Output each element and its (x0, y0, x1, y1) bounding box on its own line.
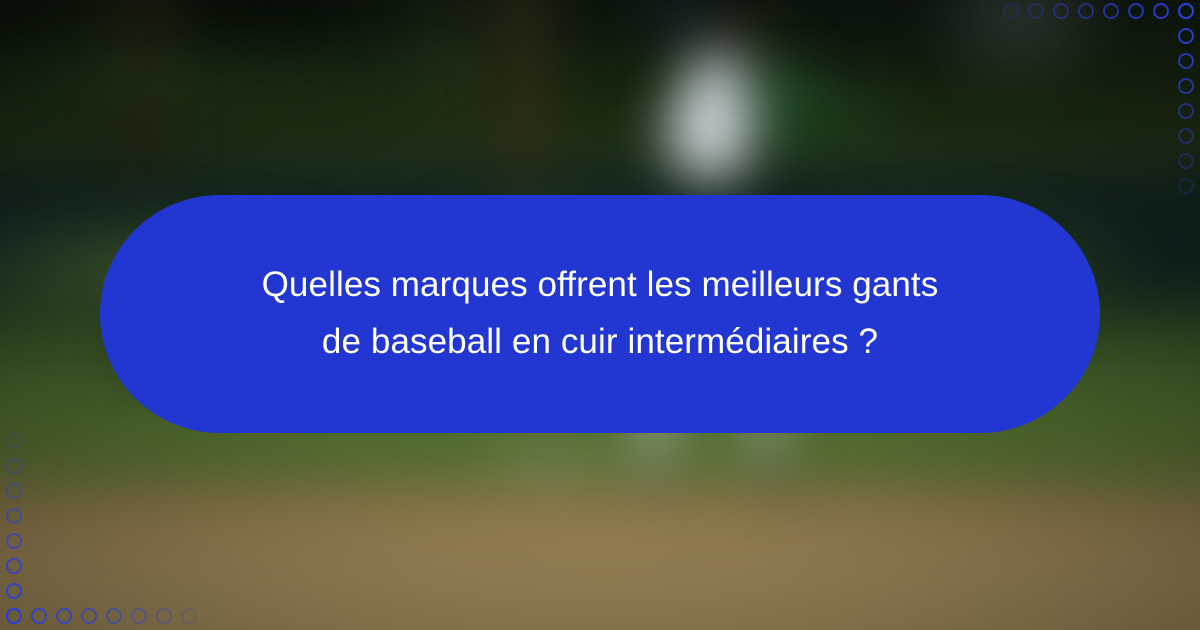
decor-circle (6, 533, 22, 549)
decor-circle (181, 608, 197, 624)
decor-circle (81, 608, 97, 624)
decor-circle (1178, 28, 1194, 44)
decor-circle (1178, 153, 1194, 169)
decor-circle (1178, 78, 1194, 94)
decor-circle (1178, 103, 1194, 119)
decor-circle (1028, 3, 1044, 19)
decor-circle (156, 608, 172, 624)
decor-circle (106, 608, 122, 624)
decor-circle (1078, 3, 1094, 19)
question-text: Quelles marques offrent les meilleurs ga… (262, 257, 939, 370)
decor-circle (6, 458, 22, 474)
decor-circle (1103, 3, 1119, 19)
decor-circle (56, 608, 72, 624)
decor-circle (1178, 178, 1194, 194)
decor-circle (1053, 3, 1069, 19)
decor-circle (6, 558, 22, 574)
decor-circle (1003, 3, 1019, 19)
decor-circle (6, 508, 22, 524)
decor-circle (131, 608, 147, 624)
decor-circle (6, 483, 22, 499)
decor-circle (6, 608, 22, 624)
decor-circle (6, 583, 22, 599)
decor-circle (6, 433, 22, 449)
decor-circle (1178, 53, 1194, 69)
question-card: Quelles marques offrent les meilleurs ga… (100, 195, 1100, 433)
decor-circle (1178, 3, 1194, 19)
decor-circle (1128, 3, 1144, 19)
share-card-canvas: Quelles marques offrent les meilleurs ga… (0, 0, 1200, 630)
decor-circle (1153, 3, 1169, 19)
decor-circle (1178, 128, 1194, 144)
decor-circle (31, 608, 47, 624)
